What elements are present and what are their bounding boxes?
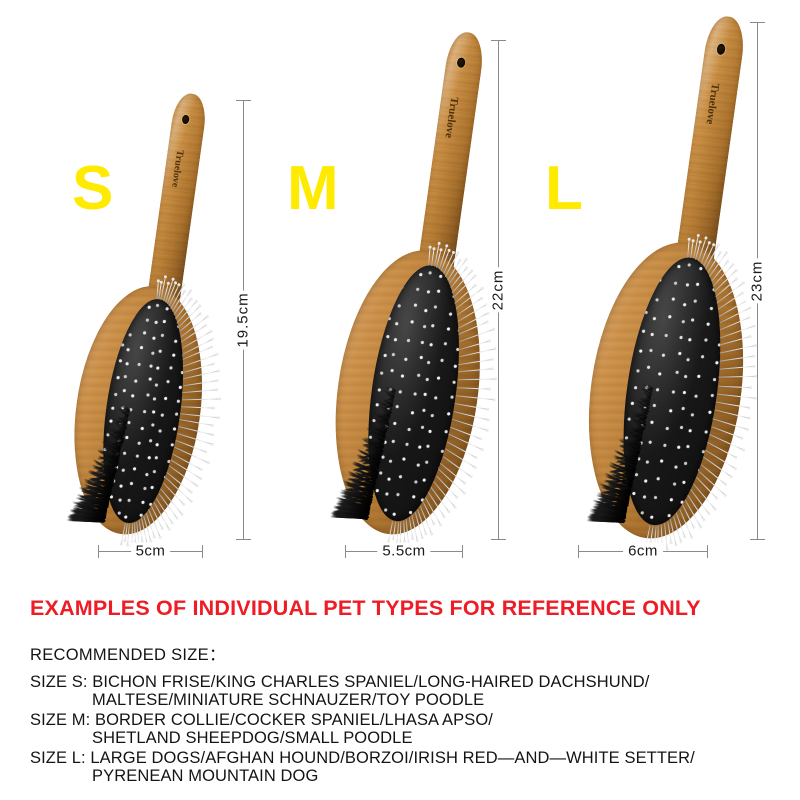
dimension-cap-bottom <box>236 539 251 540</box>
height-dimension-s: 19.5cm <box>228 100 258 540</box>
recommendation-l-line2: PYRENEAN MOUNTAIN DOG <box>30 767 790 785</box>
brush-unit-m: M Truelove 5.5cm <box>265 0 525 580</box>
height-dimension-l: 23cm <box>742 22 772 540</box>
brush-unit-l: L Truelove 6cm <box>520 0 800 580</box>
headline-text: EXAMPLES OF INDIVIDUAL PET TYPES FOR REF… <box>30 596 701 621</box>
recommendation-row-s: SIZE S: BICHON FRISE/KING CHARLES SPANIE… <box>30 673 790 710</box>
width-dimension-s: 5cm <box>98 544 203 558</box>
dimension-cap-left <box>578 545 579 558</box>
size-letter-l: L <box>545 158 582 220</box>
recommendation-row-m: SIZE M: BORDER COLLIE/COCKER SPANIEL/LHA… <box>30 711 790 748</box>
dimension-cap-bottom <box>750 539 765 540</box>
dimension-cap-left <box>345 545 346 558</box>
dimension-cap-top <box>750 22 765 23</box>
dimension-cap-top <box>236 100 251 101</box>
recommendation-m-line1: SIZE M: BORDER COLLIE/COCKER SPANIEL/LHA… <box>30 711 790 729</box>
dimension-cap-bottom <box>491 539 506 540</box>
brush-head-s <box>59 278 217 543</box>
infographic-page: S Truelove <box>0 0 800 800</box>
recommendation-row-l: SIZE L: LARGE DOGS/AFGHAN HOUND/BORZOI/I… <box>30 749 790 786</box>
brush-head-l <box>571 232 761 548</box>
height-label-m: 22cm <box>487 268 510 313</box>
recommended-size-title: RECOMMENDED SIZE： <box>30 641 226 665</box>
height-label-l: 23cm <box>746 259 769 304</box>
recommendation-m-line2: SHETLAND SHEEPDOG/SMALL POODLE <box>30 729 790 747</box>
recommendation-list: SIZE S: BICHON FRISE/KING CHARLES SPANIE… <box>30 673 790 787</box>
dimension-cap-right <box>202 545 203 558</box>
brush-unit-s: S Truelove <box>0 0 270 580</box>
dimension-cap-right <box>707 545 708 558</box>
height-dimension-m: 22cm <box>483 40 513 540</box>
width-label-s: 5cm <box>131 543 171 560</box>
width-label-m: 5.5cm <box>377 543 430 560</box>
width-dimension-m: 5.5cm <box>345 544 463 558</box>
recommendation-s-line2: MALTESE/MINIATURE SCHNAUZER/TOY POODLE <box>30 691 790 709</box>
brush-head-m <box>319 241 497 544</box>
size-letter-m: M <box>287 158 338 220</box>
recommendation-s-line1: SIZE S: BICHON FRISE/KING CHARLES SPANIE… <box>30 673 790 691</box>
product-comparison-area: S Truelove <box>0 0 800 580</box>
width-label-l: 6cm <box>623 543 663 560</box>
dimension-cap-right <box>462 545 463 558</box>
dimension-cap-top <box>491 40 506 41</box>
brush-graphic-m: Truelove <box>288 17 558 554</box>
dimension-cap-left <box>98 545 99 558</box>
width-dimension-l: 6cm <box>578 544 708 558</box>
recommendation-l-line1: SIZE L: LARGE DOGS/AFGHAN HOUND/BORZOI/I… <box>30 749 790 767</box>
height-label-s: 19.5cm <box>232 290 255 349</box>
